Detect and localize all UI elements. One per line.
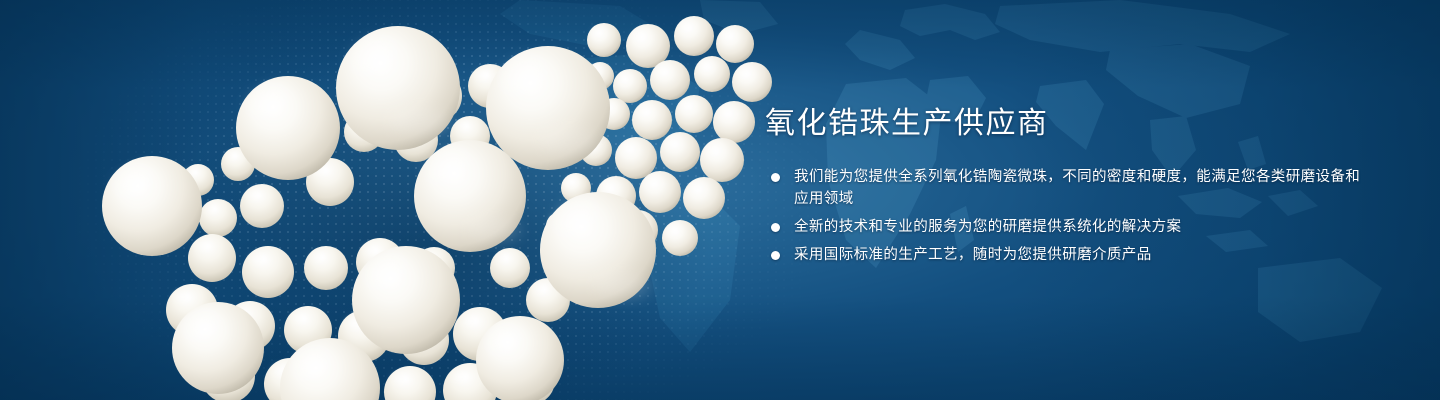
bullet-circle-icon: [771, 223, 780, 232]
banner-bullet-item: 全新的技术和专业的服务为您的研磨提供系统化的解决方案: [765, 216, 1365, 238]
hero-banner: 氧化锆珠生产供应商 我们能为您提供全系列氧化锆陶瓷微珠，不同的密度和硬度，能满足…: [0, 0, 1440, 400]
banner-bullet-item: 我们能为您提供全系列氧化锆陶瓷微珠，不同的密度和硬度，能满足您各类研磨设备和应用…: [765, 166, 1365, 210]
banner-bullet-text: 采用国际标准的生产工艺，随时为您提供研磨介质产品: [794, 247, 1152, 263]
bullet-circle-icon: [771, 251, 780, 260]
banner-copy: 氧化锆珠生产供应商 我们能为您提供全系列氧化锆陶瓷微珠，不同的密度和硬度，能满足…: [765, 104, 1365, 266]
banner-headline: 氧化锆珠生产供应商: [765, 104, 1365, 144]
bullet-circle-icon: [771, 173, 780, 182]
zirconia-beads-image: [0, 0, 780, 400]
banner-bullet-text: 全新的技术和专业的服务为您的研磨提供系统化的解决方案: [794, 219, 1181, 235]
banner-bullet-list: 我们能为您提供全系列氧化锆陶瓷微珠，不同的密度和硬度，能满足您各类研磨设备和应用…: [765, 166, 1365, 266]
banner-bullet-text: 我们能为您提供全系列氧化锆陶瓷微珠，不同的密度和硬度，能满足您各类研磨设备和应用…: [794, 169, 1360, 207]
banner-bullet-item: 采用国际标准的生产工艺，随时为您提供研磨介质产品: [765, 244, 1365, 266]
